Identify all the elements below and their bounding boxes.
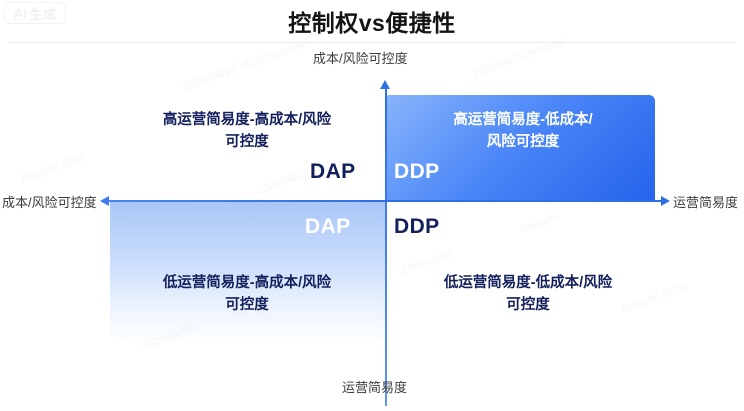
- ai-sparkle-icon: AI: [13, 6, 27, 21]
- quadrant-tag-top-left: DAP: [310, 160, 356, 184]
- watermark: hongfei 2026: [20, 151, 87, 185]
- ai-badge-label: 生成: [29, 4, 56, 23]
- arrow-right-icon: [661, 196, 670, 206]
- y-axis-line: [385, 88, 387, 406]
- axis-label-left: 成本/风险可控度: [2, 192, 97, 211]
- axis-label-right: 运营简易度: [673, 192, 738, 211]
- x-axis-line: [106, 200, 665, 202]
- quadrant-description-bottom-left: 低运营简易度-高成本/风险 可控度: [118, 273, 376, 317]
- axis-label-bottom: 运营简易度: [342, 377, 407, 396]
- arrow-up-icon: [380, 80, 390, 89]
- ai-generated-badge: AI 生成: [4, 2, 66, 24]
- arrow-left-icon: [100, 196, 109, 206]
- quadrant-description-bottom-right: 低运营简易度-低成本/风险 可控度: [404, 273, 652, 317]
- quadrant-tag-bottom-right: DDP: [394, 215, 440, 239]
- watermark: hongfei: [519, 211, 560, 236]
- watermark: 2026/04/10 honefei: [471, 36, 566, 81]
- quadrant-tag-top-right: DDP: [394, 160, 440, 184]
- watermark: 2026/04/10 14:37 honefei: [182, 38, 307, 93]
- quadrant-tag-bottom-left: DAP: [305, 215, 351, 239]
- quadrant-description-top-left: 高运营简易度-高成本/风险 可控度: [118, 110, 376, 154]
- quadrant-chart: 2026/04/10 14:37 honefei 2026/04/10 hone…: [0, 42, 744, 411]
- quadrant-description-top-right: 高运营简易度-低成本/ 风险可控度: [400, 110, 646, 154]
- axis-label-top: 成本/风险可控度: [313, 48, 408, 67]
- page-title: 控制权vs便捷性: [0, 4, 744, 38]
